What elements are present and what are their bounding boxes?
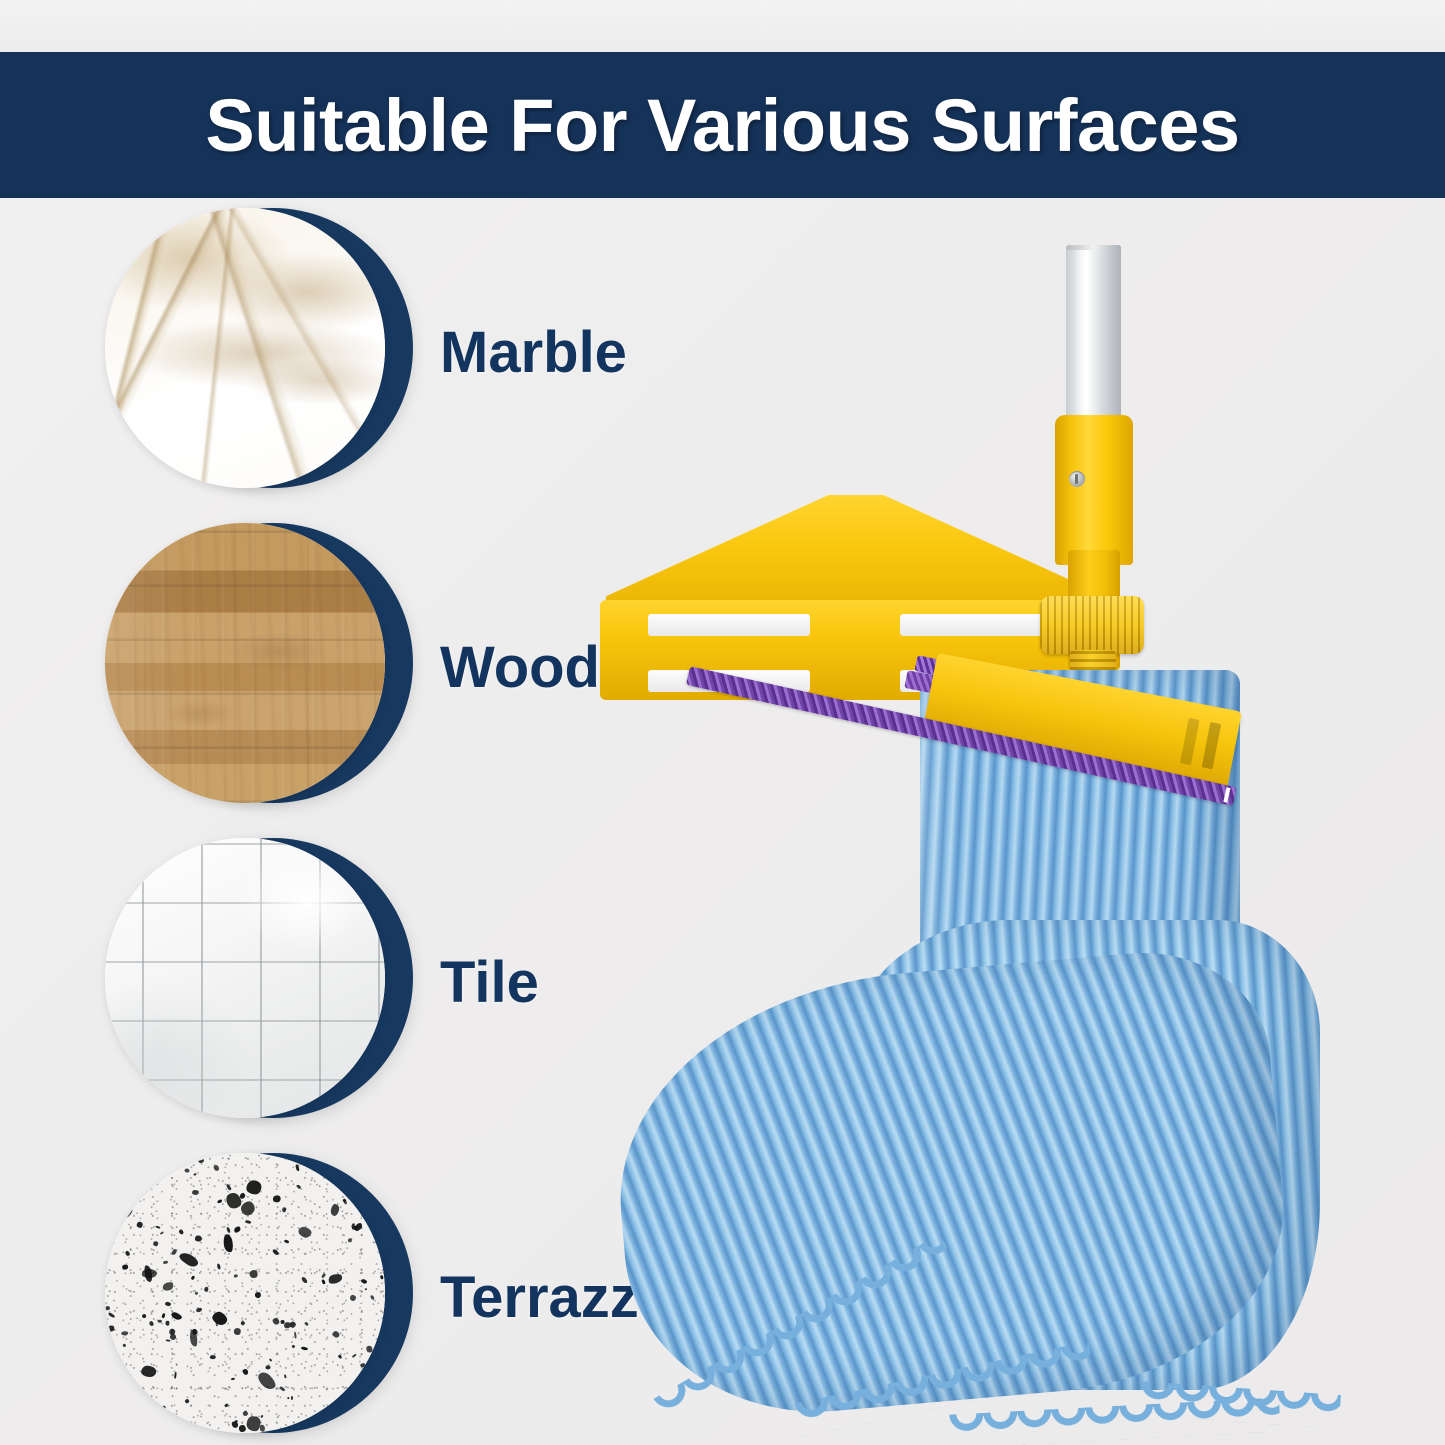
surface-label-tile: Tile: [440, 832, 539, 1132]
terrazzo-texture: [105, 1153, 385, 1433]
page-title: Suitable For Various Surfaces: [205, 83, 1239, 168]
terrazzo-chip: [382, 1350, 385, 1354]
terrazzo-chip: [281, 1320, 285, 1324]
clamp-jaw-notch-2: [1180, 718, 1200, 765]
terrazzo-chip: [141, 1269, 156, 1278]
terrazzo-chip: [184, 1168, 190, 1173]
terrazzo-chip: [165, 1432, 168, 1433]
terrazzo-chip: [165, 1321, 169, 1326]
terrazzo-chip: [378, 1344, 382, 1348]
terrazzo-swatch: [105, 1153, 385, 1433]
terrazzo-chip: [194, 1291, 198, 1295]
surface-label-wood: Wood: [440, 517, 600, 817]
marble-swatch: [105, 208, 385, 488]
surface-label-marble: Marble: [440, 202, 627, 502]
product-image-mop: [600, 200, 1445, 1445]
wood-swatch: [105, 523, 385, 803]
terrazzo-chip: [372, 1397, 377, 1403]
terrazzo-chip: [246, 1180, 261, 1194]
terrazzo-chip: [195, 1235, 202, 1242]
band-white-tag: [1223, 787, 1230, 803]
header-banner: Suitable For Various Surfaces: [0, 52, 1445, 198]
clamp-jaw-notch-1: [1202, 722, 1222, 769]
clamp-slot-left-upper: [648, 614, 810, 636]
mop-yarn-head: [620, 670, 1340, 1400]
terrazzo-chip: [158, 1320, 162, 1323]
terrazzo-chip: [203, 1287, 208, 1292]
infographic-page: Suitable For Various Surfaces Marble Woo…: [0, 0, 1445, 1445]
mop-handle-pole: [1066, 245, 1121, 425]
terrazzo-chip: [165, 1301, 172, 1306]
socket-rivet: [1069, 471, 1085, 487]
tile-texture: [105, 838, 385, 1118]
terrazzo-chip: [161, 1405, 166, 1409]
terrazzo-chip: [138, 1397, 141, 1401]
tile-swatch: [105, 838, 385, 1118]
terrazzo-chip: [380, 1275, 383, 1280]
wood-texture: [105, 523, 385, 803]
terrazzo-chip: [266, 1365, 271, 1369]
mop-handle-socket: [1055, 415, 1133, 565]
marble-texture: [105, 208, 385, 488]
terrazzo-chip: [384, 1184, 385, 1187]
top-strip: [0, 0, 1445, 52]
clamp-thumbscrew: [1040, 596, 1144, 654]
